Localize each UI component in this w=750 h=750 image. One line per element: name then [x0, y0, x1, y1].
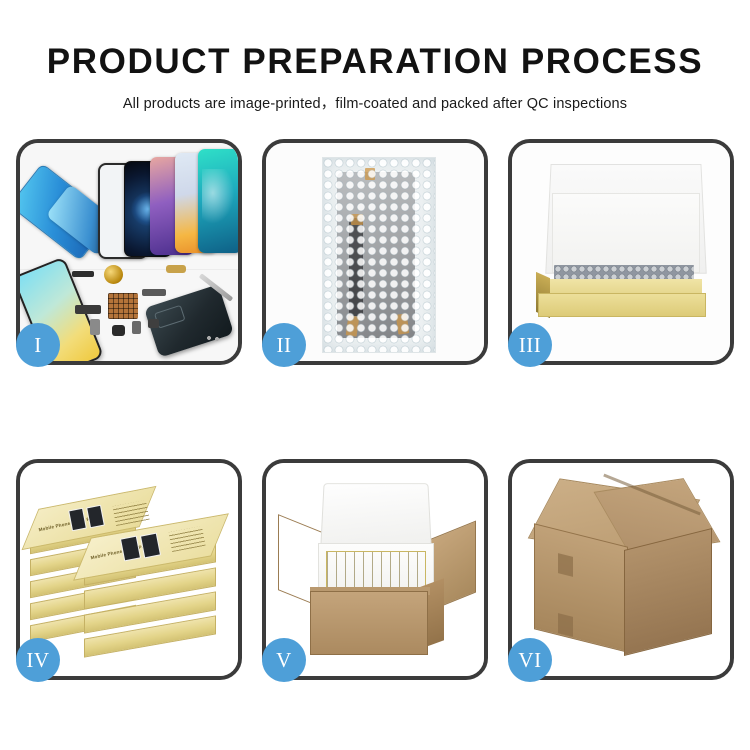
sim-tray-part: [90, 319, 100, 335]
step-badge-3: III: [508, 323, 552, 367]
step-badge-4: IV: [16, 638, 60, 682]
box-stack: Mobile Phone Spare Parts Mobile Phone Sp…: [26, 487, 236, 667]
speaker-coil-part: [104, 265, 123, 284]
gold-connector-part: [166, 265, 186, 273]
small-component-part: [148, 319, 159, 328]
page-title: PRODUCT PREPARATION PROCESS: [0, 0, 750, 81]
carton-front-face: [534, 523, 628, 652]
carton-front-panel: [310, 591, 428, 655]
screws-part: [206, 335, 222, 342]
process-step-4[interactable]: Mobile Phone Spare Parts Mobile Phone Sp…: [16, 459, 242, 680]
flex-cable-part: [72, 271, 94, 277]
bubble-wrap-bag: [322, 157, 436, 353]
phone-teal-display: [198, 149, 238, 253]
process-step-grid: I II III: [16, 139, 734, 680]
page-subtitle: All products are image-printed，film-coat…: [0, 81, 750, 113]
step-badge-5: V: [262, 638, 306, 682]
process-step-2[interactable]: II: [262, 139, 488, 365]
foam-insert: [552, 193, 700, 273]
box-base-front: [538, 293, 706, 317]
process-step-6[interactable]: VI: [508, 459, 734, 680]
button-part: [132, 321, 141, 334]
step-badge-2: II: [262, 323, 306, 367]
process-step-1[interactable]: I: [16, 139, 242, 365]
flex-cable-part: [142, 289, 166, 296]
camera-module-part: [112, 325, 125, 336]
flex-cable-part: [75, 305, 101, 314]
tape-patch: [558, 553, 573, 577]
tape-strip: [365, 168, 375, 180]
process-step-5[interactable]: V: [262, 459, 488, 680]
carton-side-face: [624, 528, 712, 656]
step-badge-6: VI: [508, 638, 552, 682]
wrapped-flex-cable: [349, 218, 363, 316]
tape-strip: [351, 214, 363, 225]
tape-patch: [558, 613, 573, 637]
circuit-board-part: [108, 293, 138, 319]
foam-lid: [320, 483, 431, 547]
page-header: PRODUCT PREPARATION PROCESS All products…: [0, 0, 750, 113]
process-step-3[interactable]: III: [508, 139, 734, 365]
step-badge-1: I: [16, 323, 60, 367]
